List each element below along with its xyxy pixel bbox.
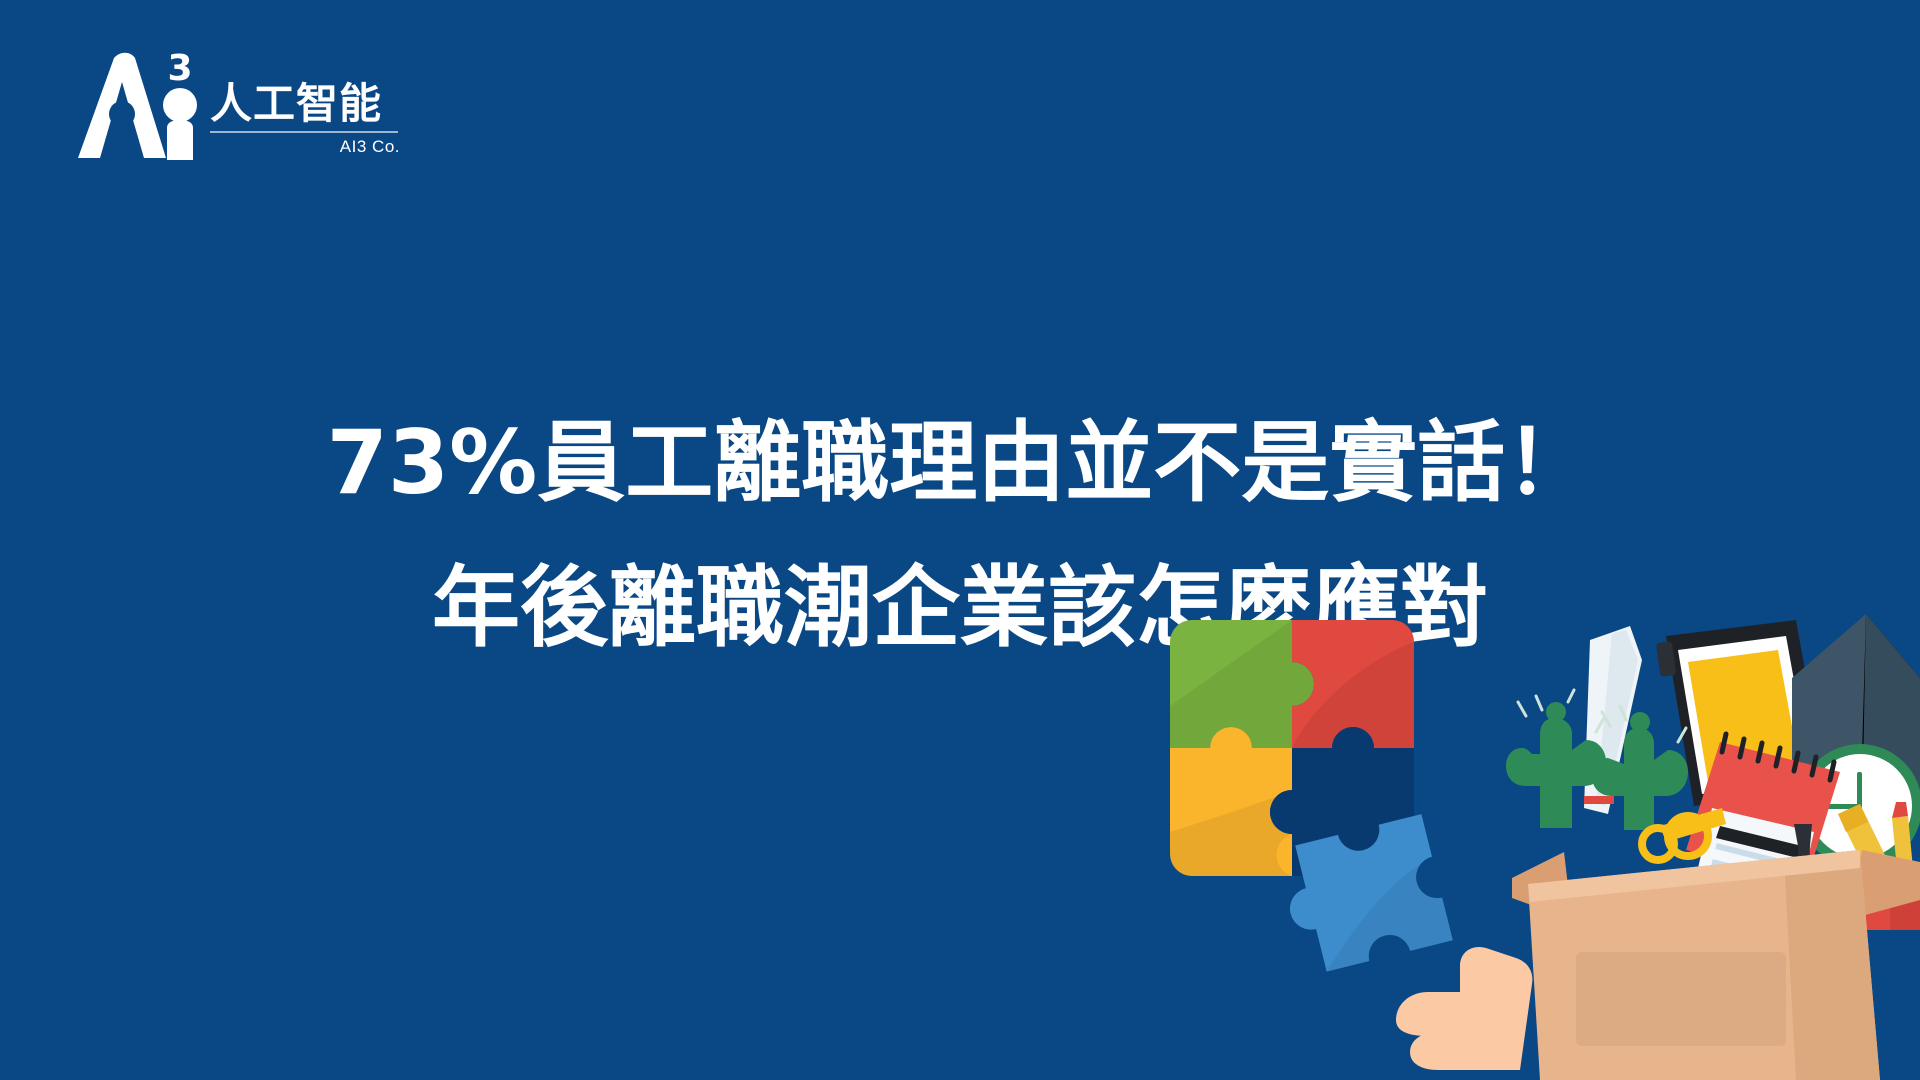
ai3-logo[interactable]: 3 人工智能 AI3 Co. — [70, 52, 400, 167]
headline-line-1: 73%員工離職理由並不是實話！ — [0, 390, 1920, 535]
logo-divider — [210, 131, 398, 133]
box-label — [1576, 952, 1786, 1046]
banner-root: 3 人工智能 AI3 Co. 73%員工離職理由並不是實話！ 年後離職潮企業該怎… — [0, 0, 1920, 1080]
ai3-logo-mark: 3 — [70, 52, 205, 162]
logo-chinese-name: 人工智能 — [210, 80, 400, 128]
resignation-illustration — [1160, 600, 1920, 1080]
logo-text-block: 人工智能 AI3 Co. — [210, 80, 400, 157]
logo-english-name: AI3 Co. — [210, 137, 400, 157]
logo-superscript-3: 3 — [167, 52, 192, 89]
puzzle-graphic — [1170, 620, 1414, 876]
hand — [1396, 947, 1532, 1070]
cardboard-box — [1512, 850, 1920, 1080]
